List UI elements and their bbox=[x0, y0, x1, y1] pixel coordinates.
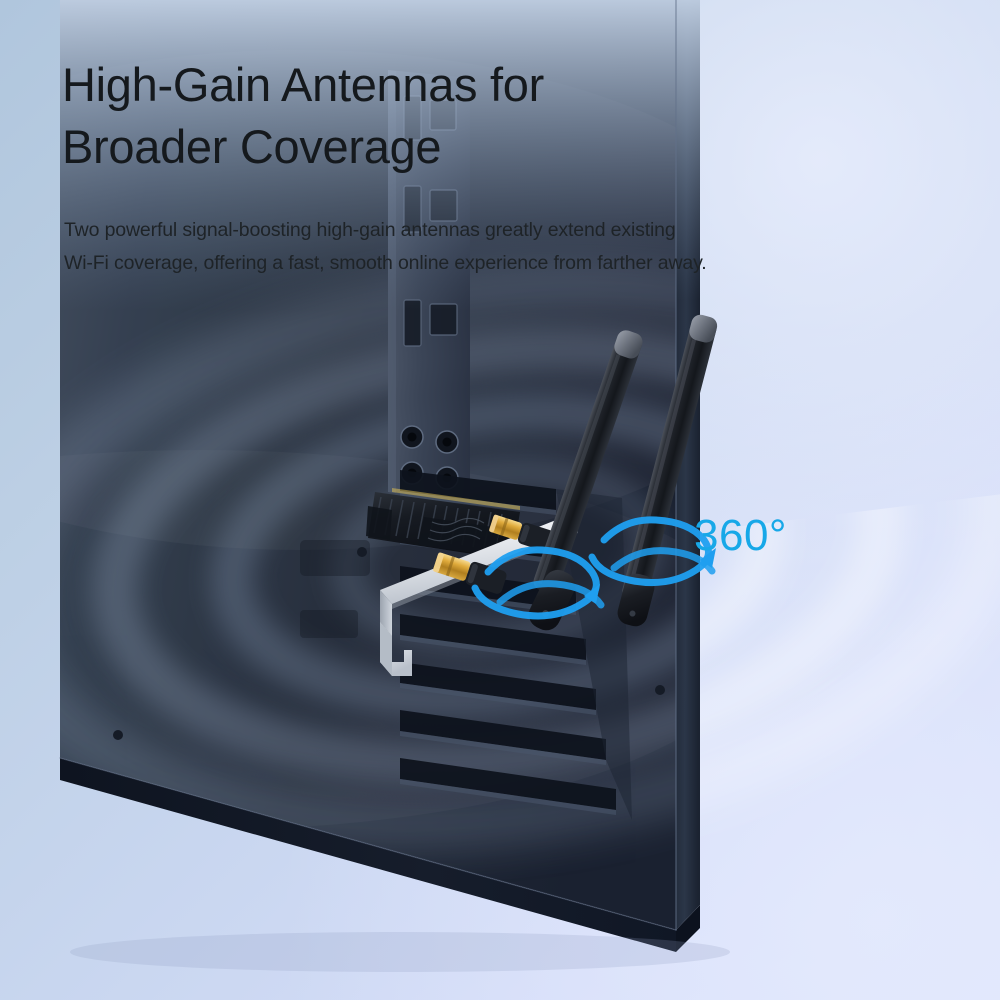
rotation-arc-front bbox=[475, 550, 601, 616]
page-title: High-Gain Antennas for Broader Coverage bbox=[62, 54, 682, 178]
rotation-badge-label: 360° bbox=[694, 514, 787, 558]
page-subtitle: Two powerful signal-boosting high-gain a… bbox=[64, 214, 904, 280]
product-feature-banner: High-Gain Antennas for Broader Coverage … bbox=[0, 0, 1000, 1000]
